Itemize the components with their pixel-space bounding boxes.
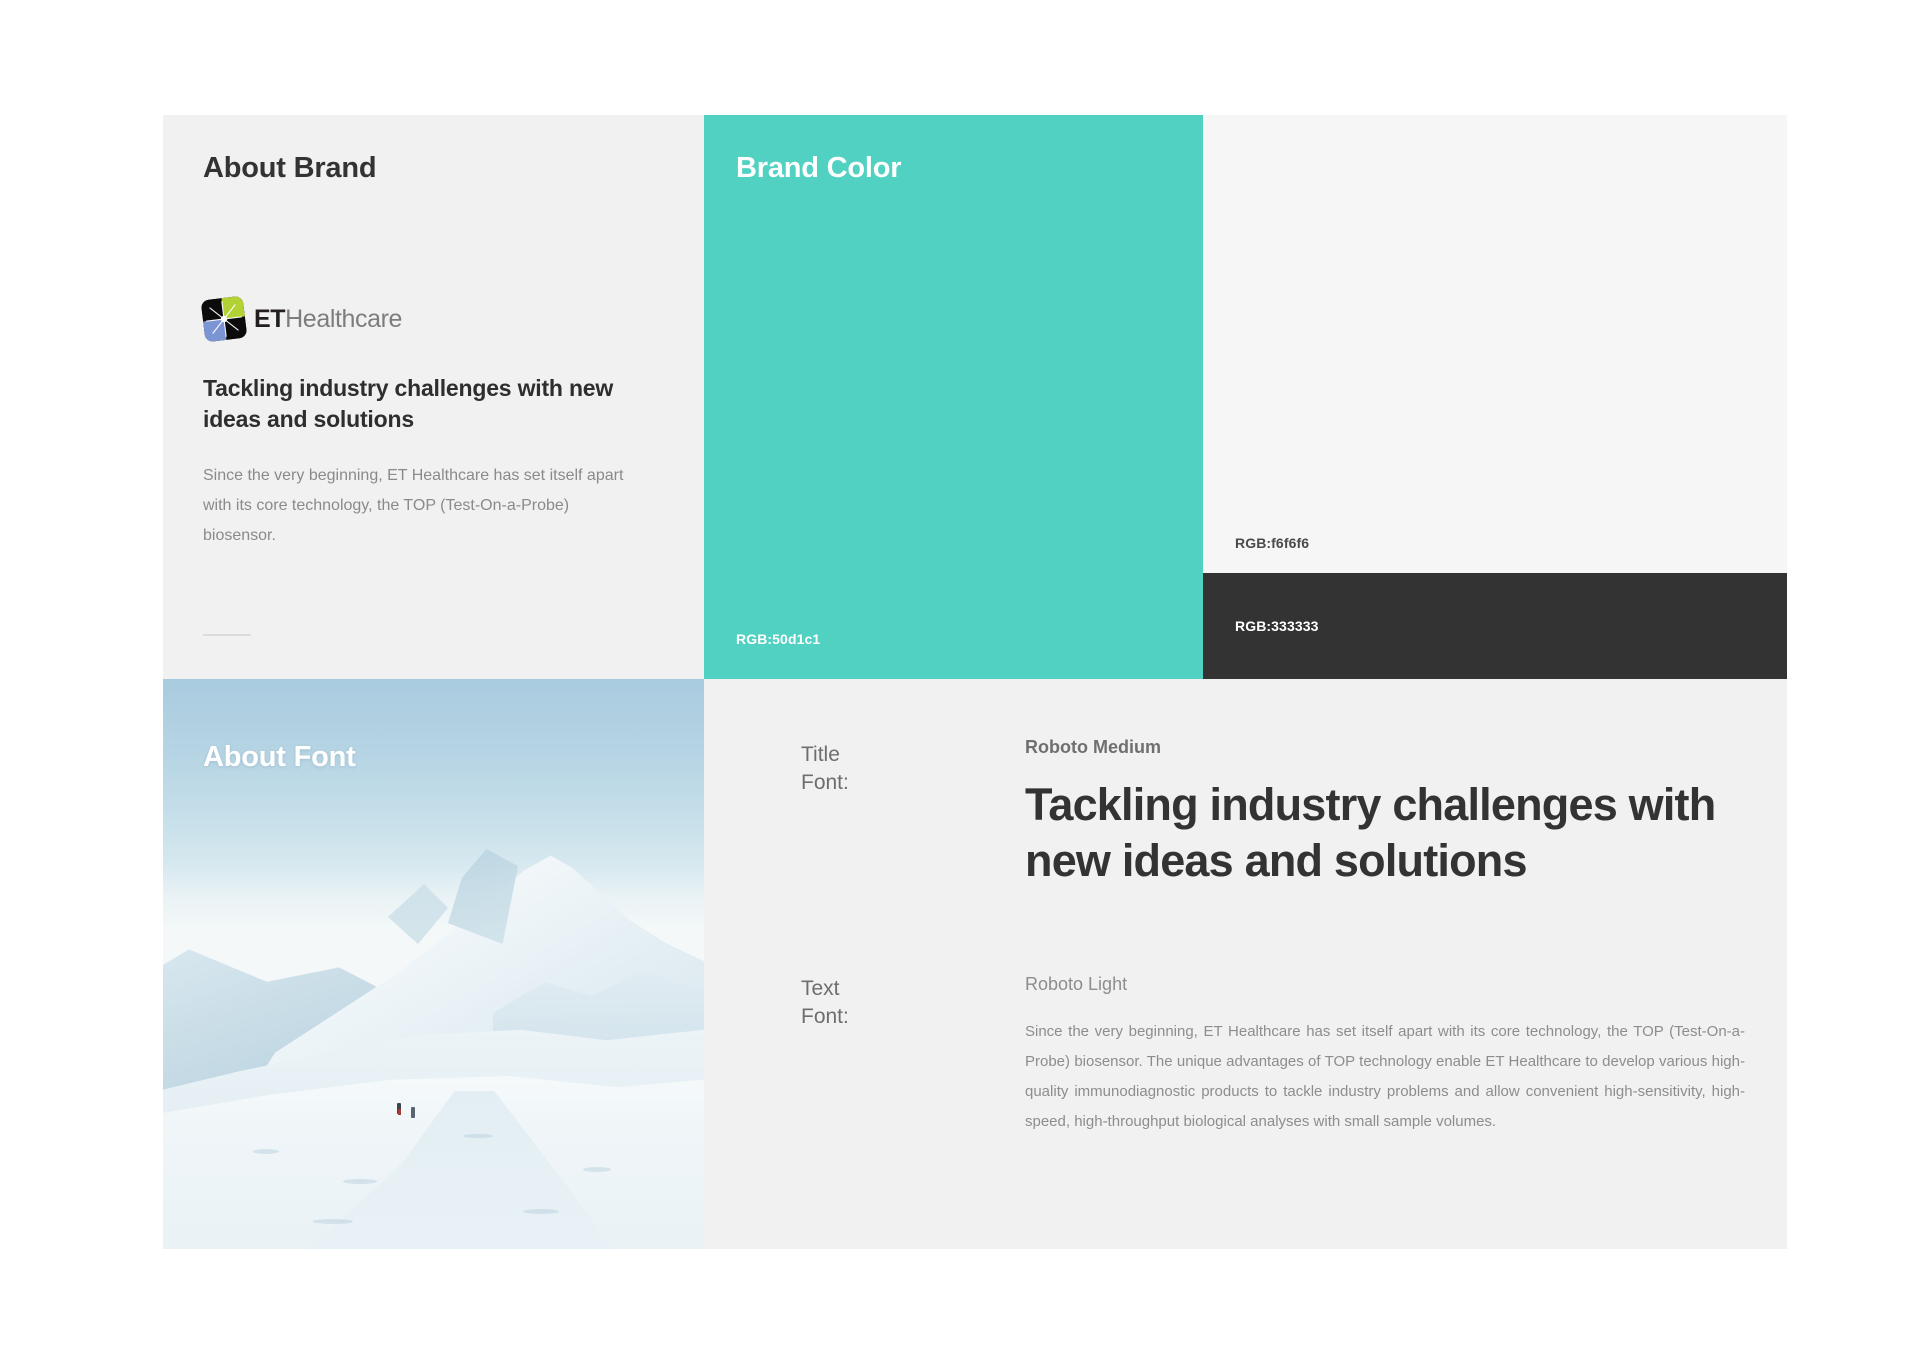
photo-snow-texture [313, 1219, 353, 1224]
photo-hiker-left [397, 1103, 401, 1114]
title-font-specimen: Tackling industry challenges with new id… [1025, 777, 1765, 890]
brand-paragraph: Since the very beginning, ET Healthcare … [203, 461, 643, 550]
photo-hiker-right [411, 1107, 415, 1118]
photo-snow-texture [463, 1134, 493, 1138]
photo-snow-texture [583, 1167, 611, 1172]
logo-starburst-icon [201, 296, 248, 343]
panel-about-font-photo: About Font [163, 679, 704, 1249]
swatch-text-dark: RGB:333333 [1203, 573, 1787, 679]
photo-peak-shadow-secondary [388, 884, 448, 944]
about-font-heading: About Font [203, 741, 356, 774]
brand-headline: Tackling industry challenges with new id… [203, 373, 623, 435]
brand-logo: ETHealthcare [203, 298, 402, 340]
swatch-label-background-light: RGB:f6f6f6 [1235, 535, 1309, 551]
photo-snow-texture [343, 1179, 377, 1184]
text-font-specimen: Since the very beginning, ET Healthcare … [1025, 1017, 1745, 1137]
text-font-name: Roboto Light [1025, 974, 1127, 995]
swatch-primary-teal: Brand Color RGB:50d1c1 [704, 115, 1203, 679]
title-font-label: Title Font: [801, 741, 849, 797]
about-brand-heading: About Brand [203, 152, 376, 185]
logo-mark-icon [201, 296, 248, 343]
title-font-name: Roboto Medium [1025, 737, 1161, 758]
logo-wordmark-bold: ET [254, 305, 285, 333]
row-font: About Font Title Font: Roboto Medium Tac… [163, 679, 1787, 1249]
panel-about-brand: About Brand [163, 115, 704, 679]
style-guide-board: About Brand [163, 115, 1787, 1249]
panel-font-specimens: Title Font: Roboto Medium Tackling indus… [704, 679, 1787, 1249]
row-brand: About Brand [163, 115, 1787, 679]
logo-wordmark: ETHealthcare [254, 307, 402, 332]
logo-wordmark-regular: Healthcare [285, 305, 402, 333]
swatch-label-primary-teal: RGB:50d1c1 [736, 631, 820, 647]
text-font-label: Text Font: [801, 975, 849, 1031]
swatch-label-text-dark: RGB:333333 [1235, 618, 1319, 634]
brand-divider [203, 634, 251, 636]
brand-color-heading: Brand Color [736, 152, 901, 185]
photo-snow-texture [253, 1149, 279, 1154]
swatch-background-light: RGB:f6f6f6 [1203, 115, 1787, 573]
photo-snow-texture [523, 1209, 559, 1214]
